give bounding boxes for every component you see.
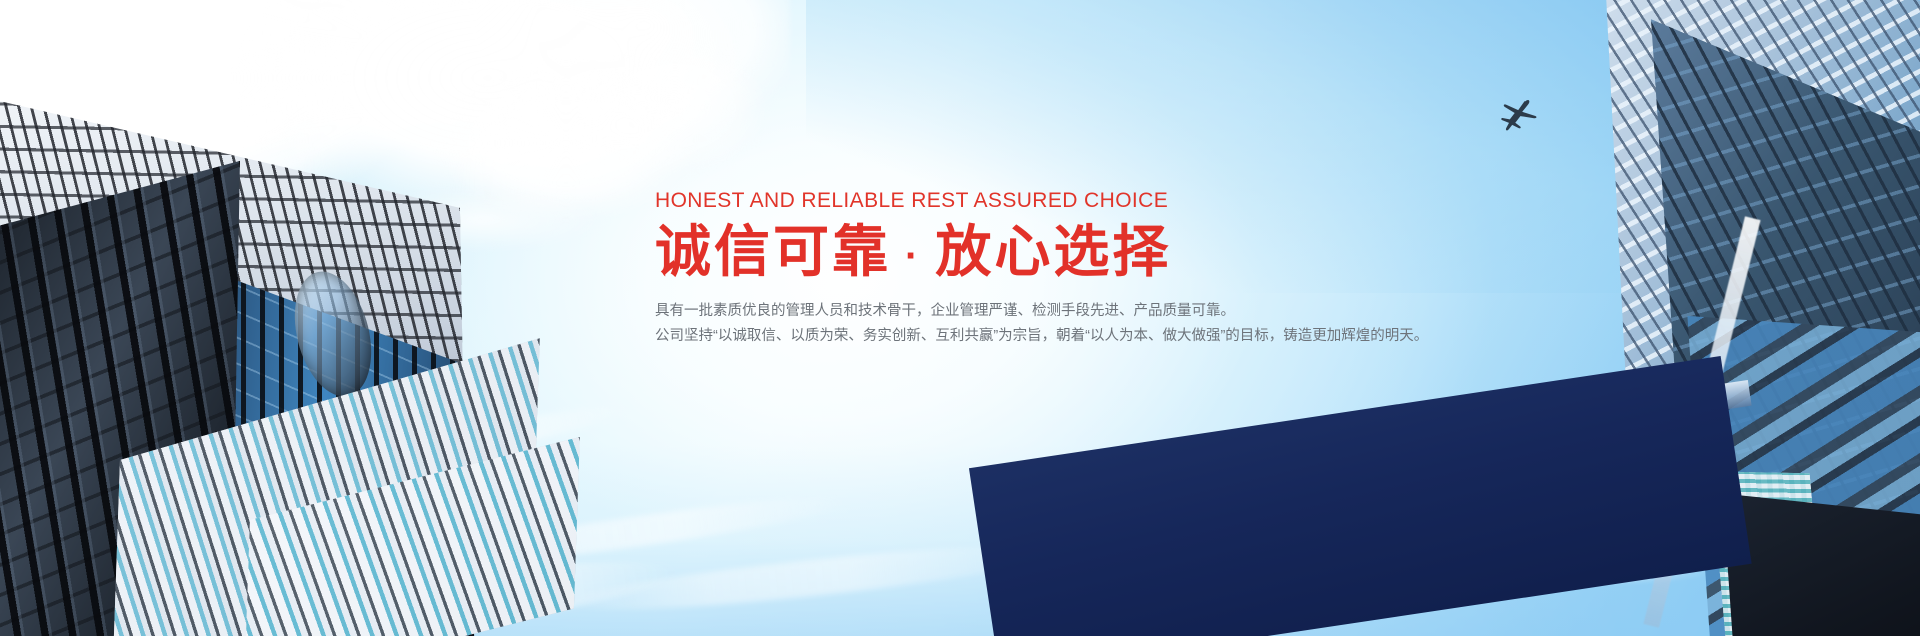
banner-copy-block: HONEST AND RELIABLE REST ASSURED CHOICE … [655, 188, 1415, 350]
body-line-2: 公司坚持“以诚取信、以质为荣、务实创新、互利共赢”为宗旨，朝着“以人为本、做大做… [655, 324, 1415, 350]
headline-part-left: 诚信可靠 [655, 220, 891, 283]
airplane-icon [1495, 100, 1543, 134]
banner-headline: 诚信可靠·放心选择 [655, 220, 1415, 284]
tower-dark-corner [1723, 493, 1920, 636]
banner-body-text: 具有一批素质优良的管理人员和技术骨干，企业管理严谨、检测手段先进、产品质量可靠。… [655, 299, 1415, 351]
headline-part-right: 放心选择 [935, 220, 1171, 283]
banner-eyebrow-english: HONEST AND RELIABLE REST ASSURED CHOICE [655, 188, 1415, 213]
headline-separator-dot: · [891, 234, 935, 278]
body-line-1: 具有一批素质优良的管理人员和技术骨干，企业管理严谨、检测手段先进、产品质量可靠。 [655, 299, 1415, 325]
hero-banner: HONEST AND RELIABLE REST ASSURED CHOICE … [0, 0, 1920, 636]
